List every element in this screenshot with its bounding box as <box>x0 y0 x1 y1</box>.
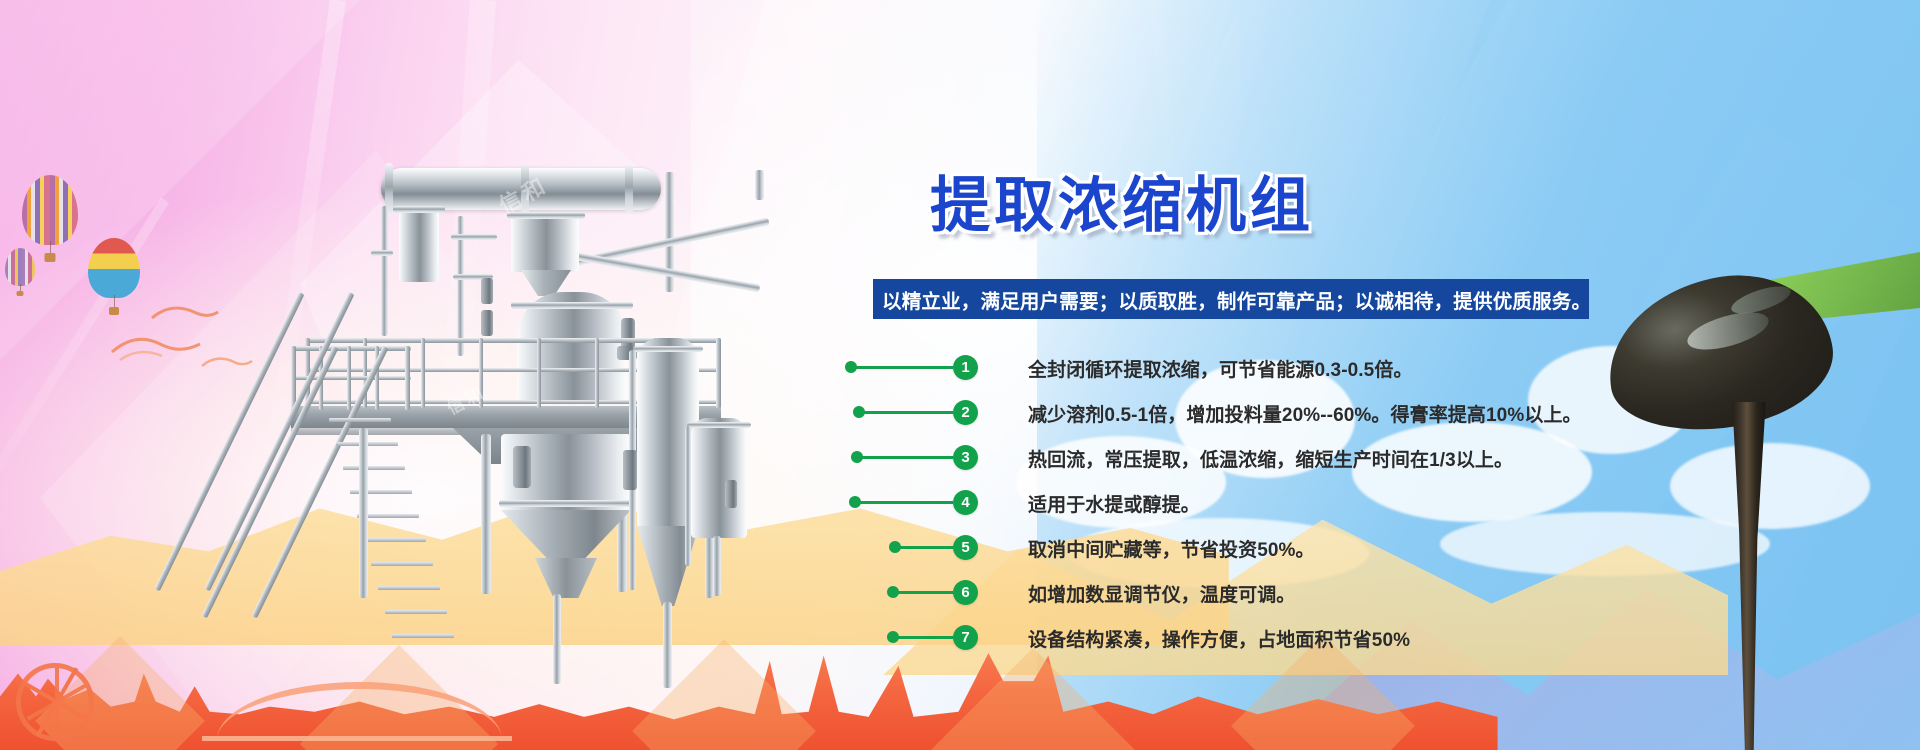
hot-air-balloon-icon <box>22 175 78 245</box>
list-item: 6 如增加数显调节仪，温度可调。 <box>845 573 1825 611</box>
feature-number-badge: 3 <box>953 445 978 470</box>
hot-air-balloon-icon <box>88 238 140 298</box>
connector-line <box>859 501 953 504</box>
connector-line <box>861 456 953 459</box>
feature-number-badge: 5 <box>953 535 978 560</box>
connector-line <box>897 636 953 639</box>
collector-tank <box>691 418 747 538</box>
extraction-housing <box>511 216 579 272</box>
feature-text: 适用于水提或醇提。 <box>1028 490 1200 517</box>
bird-icon <box>150 300 220 326</box>
discharge-cone <box>501 510 631 562</box>
list-item: 4 适用于水提或醇提。 <box>845 483 1825 521</box>
feature-text: 热回流，常压提取，低温浓缩，缩短生产时间在1/3以上。 <box>1028 445 1513 472</box>
feature-text: 如增加数显调节仪，温度可调。 <box>1028 580 1295 607</box>
feature-text: 设备结构紧凑，操作方便，占地面积节省50% <box>1028 625 1410 652</box>
hot-air-balloon-icon <box>5 248 35 286</box>
access-stairs <box>323 350 453 630</box>
feature-number-badge: 6 <box>953 580 978 605</box>
list-item: 2 减少溶剂0.5-1倍，增加投料量20%--60%。得膏率提高10%以上。 <box>845 393 1825 431</box>
connector-line <box>899 546 953 549</box>
slogan-banner: 以精立业，满足用户需要；以质取胜，制作可靠产品；以诚相待，提供优质服务。 <box>873 279 1589 319</box>
feature-list: 1 全封闭循环提取浓缩，可节省能源0.3-0.5倍。 2 减少溶剂0.5-1倍，… <box>845 348 1825 663</box>
connector-line <box>855 366 953 369</box>
feature-text: 全封闭循环提取浓缩，可节省能源0.3-0.5倍。 <box>1028 355 1413 382</box>
connector-line <box>863 411 953 414</box>
connector-line <box>897 591 953 594</box>
feature-number-badge: 7 <box>953 625 978 650</box>
feature-text: 减少溶剂0.5-1倍，增加投料量20%--60%。得膏率提高10%以上。 <box>1028 400 1582 427</box>
feature-text: 取消中间贮藏等，节省投资50%。 <box>1028 535 1315 562</box>
list-item: 3 热回流，常压提取，低温浓缩，缩短生产时间在1/3以上。 <box>845 438 1825 476</box>
receiver-tank <box>399 208 439 282</box>
page-title: 提取浓缩机组 <box>930 176 1314 236</box>
feature-number-badge: 1 <box>953 355 978 380</box>
bird-icon <box>110 330 202 364</box>
feature-number-badge: 2 <box>953 400 978 425</box>
list-item: 5 取消中间贮藏等，节省投资50%。 <box>845 528 1825 566</box>
stainless-steel-extraction-concentration-unit: 信和 信和 <box>285 150 775 590</box>
product-hero-banner: 信和 信和 提取浓缩机组 以精立业，满足用户需要；以质取胜，制作可靠产品；以诚相… <box>0 0 1920 750</box>
feature-number-badge: 4 <box>953 490 978 515</box>
slogan-text: 以精立业，满足用户需要；以质取胜，制作可靠产品；以诚相待，提供优质服务。 <box>873 285 1591 314</box>
list-item: 7 设备结构紧凑，操作方便，占地面积节省50% <box>845 618 1825 656</box>
bird-icon <box>200 352 254 372</box>
list-item: 1 全封闭循环提取浓缩，可节省能源0.3-0.5倍。 <box>845 348 1825 386</box>
